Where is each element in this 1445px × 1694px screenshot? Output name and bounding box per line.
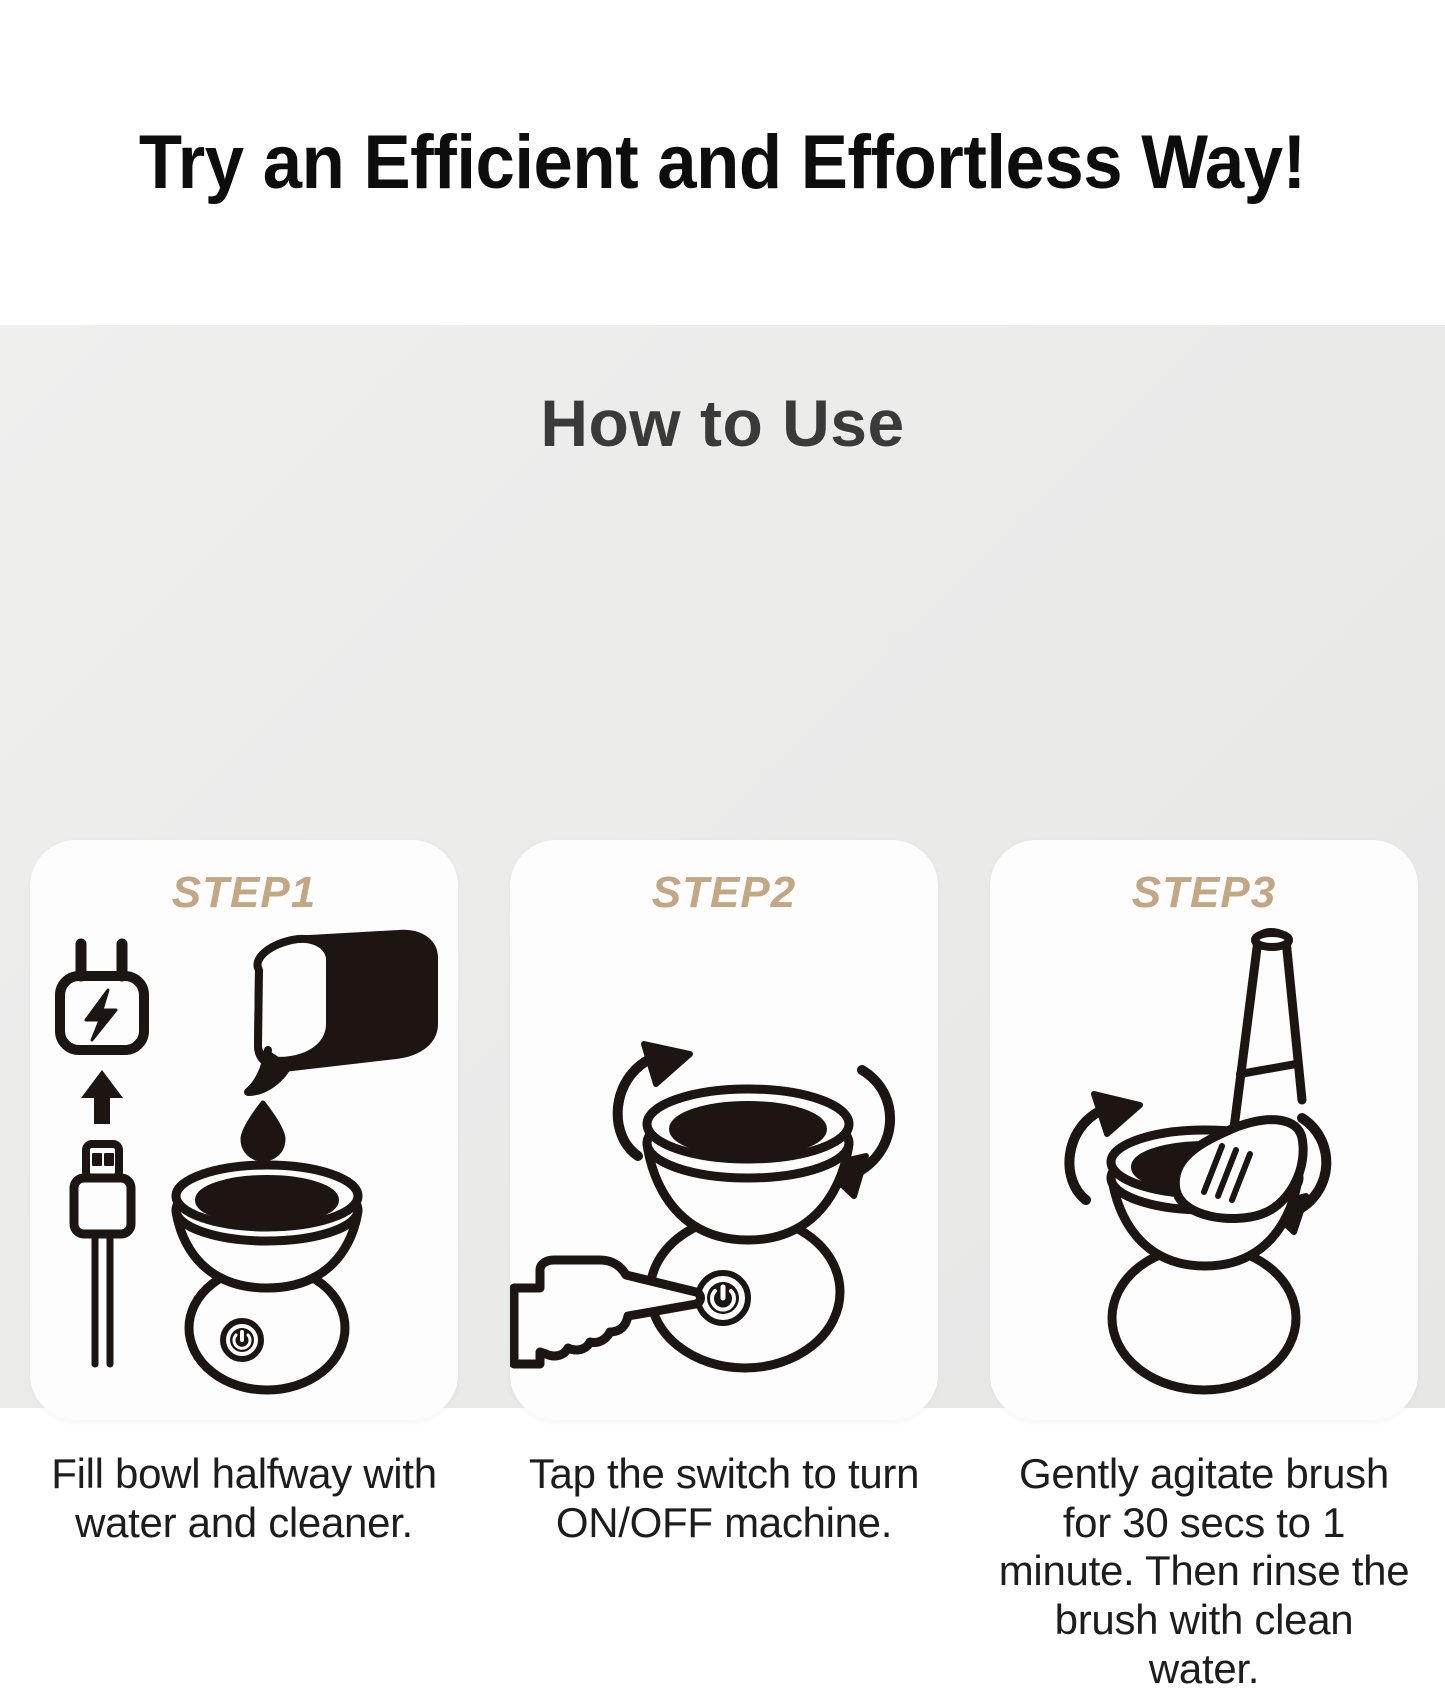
step-2-illustration xyxy=(510,928,938,1420)
step-card-3: STEP3 xyxy=(990,840,1418,1694)
makeup-brush-icon xyxy=(1175,933,1303,1219)
power-button-icon xyxy=(698,1273,748,1323)
step-card-2: STEP2 xyxy=(510,840,938,1694)
panel-heading: How to Use xyxy=(0,325,1445,461)
top-banner: Try an Efficient and Effortless Way! xyxy=(0,0,1445,325)
pouring-cup-icon xyxy=(248,934,434,1092)
step-3-label: STEP3 xyxy=(990,868,1418,918)
step-1-card: STEP1 xyxy=(30,840,458,1420)
how-to-use-panel: How to Use STEP1 xyxy=(0,325,1445,1408)
step-card-1: STEP1 xyxy=(30,840,458,1694)
step-1-illustration xyxy=(30,928,458,1420)
step-2-card: STEP2 xyxy=(510,840,938,1420)
step-1-caption: Fill bowl halfway with water and cleaner… xyxy=(34,1450,454,1547)
step-3-caption: Gently agitate brush for 30 secs to 1 mi… xyxy=(994,1450,1414,1694)
step-2-label: STEP2 xyxy=(510,868,938,918)
page-title: Try an Efficient and Effortless Way! xyxy=(139,119,1306,206)
steps-row: STEP1 xyxy=(30,840,1420,1694)
step-3-card: STEP3 xyxy=(990,840,1418,1420)
power-button-icon xyxy=(223,1321,261,1359)
step-1-label: STEP1 xyxy=(30,868,458,918)
bowl-device-icon xyxy=(176,1165,358,1390)
usb-cable-icon xyxy=(74,1144,131,1364)
step-2-caption: Tap the switch to turn ON/OFF machine. xyxy=(514,1450,934,1547)
bowl-device-icon xyxy=(647,1089,849,1368)
power-plug-icon xyxy=(60,944,144,1050)
liquid-drop-icon xyxy=(243,1103,283,1159)
up-arrow-icon xyxy=(81,1070,123,1124)
step-3-illustration xyxy=(990,928,1418,1420)
